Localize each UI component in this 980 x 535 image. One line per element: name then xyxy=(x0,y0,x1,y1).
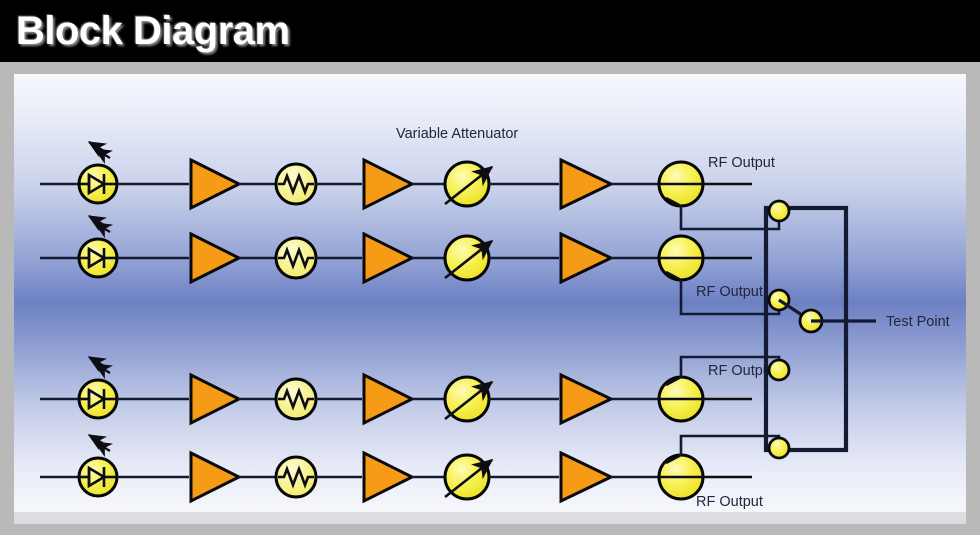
amplifier-1b[interactable] xyxy=(364,160,412,208)
test-point-selector-switch[interactable]: Test Point xyxy=(766,201,950,458)
amplifier-4b[interactable] xyxy=(364,453,412,501)
amplifier-2c[interactable] xyxy=(561,234,611,282)
rf-output-label-1: RF Output xyxy=(708,155,775,171)
frame-bottom-shelf xyxy=(14,512,966,524)
light-arrows-icon-3 xyxy=(89,357,110,373)
amplifier-1a[interactable] xyxy=(191,160,239,208)
block-diagram-page: Block Diagram xyxy=(0,0,980,535)
amplifier-1c[interactable] xyxy=(561,160,611,208)
title-bar: Block Diagram xyxy=(0,0,980,62)
resistor-4[interactable] xyxy=(276,457,316,497)
amplifier-3c[interactable] xyxy=(561,375,611,423)
test-point-label: Test Point xyxy=(886,314,950,330)
diagram-frame: RF Output xyxy=(0,62,980,535)
photodiode-4[interactable] xyxy=(79,435,117,496)
diagram-canvas: RF Output xyxy=(14,74,966,512)
directional-coupler-4[interactable] xyxy=(659,455,752,499)
resistor-2[interactable] xyxy=(276,238,316,278)
variable-attenuator-1[interactable] xyxy=(445,162,492,206)
variable-attenuator-3[interactable] xyxy=(445,377,492,421)
light-arrows-icon-1 xyxy=(89,142,110,158)
amplifier-3b[interactable] xyxy=(364,375,412,423)
resistor-3[interactable] xyxy=(276,379,316,419)
channel-row-4: RF Output xyxy=(40,435,779,510)
channel-row-2: RF Output xyxy=(40,216,779,314)
photodiode-2[interactable] xyxy=(79,216,117,277)
block-diagram-svg: RF Output xyxy=(14,74,966,512)
variable-attenuator-2[interactable] xyxy=(445,236,492,280)
directional-coupler-2[interactable] xyxy=(659,236,752,280)
resistor-1[interactable] xyxy=(276,164,316,204)
directional-coupler-3[interactable] xyxy=(659,377,752,421)
channel-row-3: RF Output xyxy=(40,357,779,423)
variable-attenuator-label: Variable Attenuator xyxy=(396,126,518,142)
page-title: Block Diagram xyxy=(16,8,290,54)
switch-input-node-3[interactable] xyxy=(769,360,789,380)
light-arrows-icon-4 xyxy=(89,435,110,451)
amplifier-3a[interactable] xyxy=(191,375,239,423)
amplifier-2a[interactable] xyxy=(191,234,239,282)
switch-input-node-4[interactable] xyxy=(769,438,789,458)
rf-output-label-4: RF Output xyxy=(696,494,763,510)
photodiode-3[interactable] xyxy=(79,357,117,418)
variable-attenuator-4[interactable] xyxy=(445,455,492,499)
amplifier-2b[interactable] xyxy=(364,234,412,282)
amplifier-4c[interactable] xyxy=(561,453,611,501)
switch-input-node-1[interactable] xyxy=(769,201,789,221)
rf-output-label-2: RF Output xyxy=(696,284,763,300)
amplifier-4a[interactable] xyxy=(191,453,239,501)
channel-row-1: RF Output xyxy=(40,142,779,229)
light-arrows-icon-2 xyxy=(89,216,110,232)
photodiode-1[interactable] xyxy=(79,142,117,203)
